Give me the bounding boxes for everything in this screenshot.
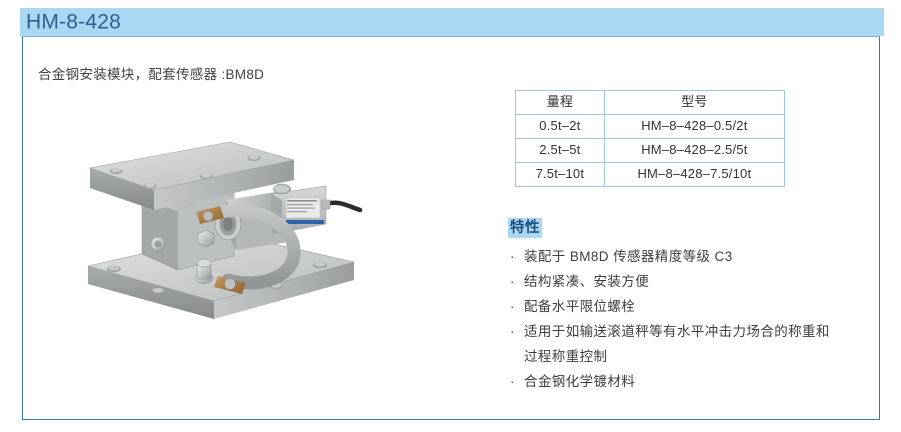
list-item: · 结构紧凑、安装方便 — [508, 269, 838, 294]
cell-model: HM–8–428–0.5/2t — [604, 115, 784, 139]
cell-model: HM–8–428–7.5/10t — [604, 163, 784, 187]
list-item-label: 适用于如输送滚道秤等有水平冲击力场合的称重和过程称重控制 — [524, 324, 830, 364]
cell-range: 7.5t–10t — [516, 163, 605, 187]
table-row: 0.5t–2t HM–8–428–0.5/2t — [516, 115, 785, 139]
list-item-label: 结构紧凑、安装方便 — [524, 274, 649, 289]
list-item: · 配备水平限位螺栓 — [508, 294, 838, 319]
product-header-bar: HM-8-428 — [20, 8, 884, 36]
list-item: · 合金钢化学镀材料 — [508, 369, 838, 394]
page-title: HM-8-428 — [26, 12, 121, 33]
cell-range: 2.5t–5t — [516, 139, 605, 163]
table-header-row: 量程 型号 — [516, 91, 785, 115]
bullet-icon: · — [510, 294, 515, 319]
list-item-label: 配备水平限位螺栓 — [524, 299, 635, 314]
cell-model: HM–8–428–2.5/5t — [604, 139, 784, 163]
product-photo — [58, 138, 374, 334]
specification-table: 量程 型号 0.5t–2t HM–8–428–0.5/2t 2.5t–5t HM… — [515, 90, 785, 187]
bullet-icon: · — [510, 244, 515, 269]
list-item: · 适用于如输送滚道秤等有水平冲击力场合的称重和过程称重控制 — [508, 319, 838, 369]
list-item-label: 合金钢化学镀材料 — [524, 374, 635, 389]
list-item-label: 装配于 BM8D 传感器精度等级 C3 — [524, 249, 733, 264]
bullet-icon: · — [510, 369, 515, 394]
bullet-icon: · — [510, 319, 515, 344]
features-heading: 特性 — [508, 218, 542, 238]
bullet-icon: · — [510, 269, 515, 294]
features-block: 特性 · 装配于 BM8D 传感器精度等级 C3 · 结构紧凑、安装方便 · 配… — [508, 218, 838, 394]
table-header-model: 型号 — [604, 91, 784, 115]
table-row: 7.5t–10t HM–8–428–7.5/10t — [516, 163, 785, 187]
table-row: 2.5t–5t HM–8–428–2.5/5t — [516, 139, 785, 163]
features-list: · 装配于 BM8D 传感器精度等级 C3 · 结构紧凑、安装方便 · 配备水平… — [508, 244, 838, 394]
list-item: · 装配于 BM8D 传感器精度等级 C3 — [508, 244, 838, 269]
table-header-range: 量程 — [516, 91, 605, 115]
cell-range: 0.5t–2t — [516, 115, 605, 139]
product-subtitle: 合金钢安装模块，配套传感器 :BM8D — [38, 63, 264, 83]
